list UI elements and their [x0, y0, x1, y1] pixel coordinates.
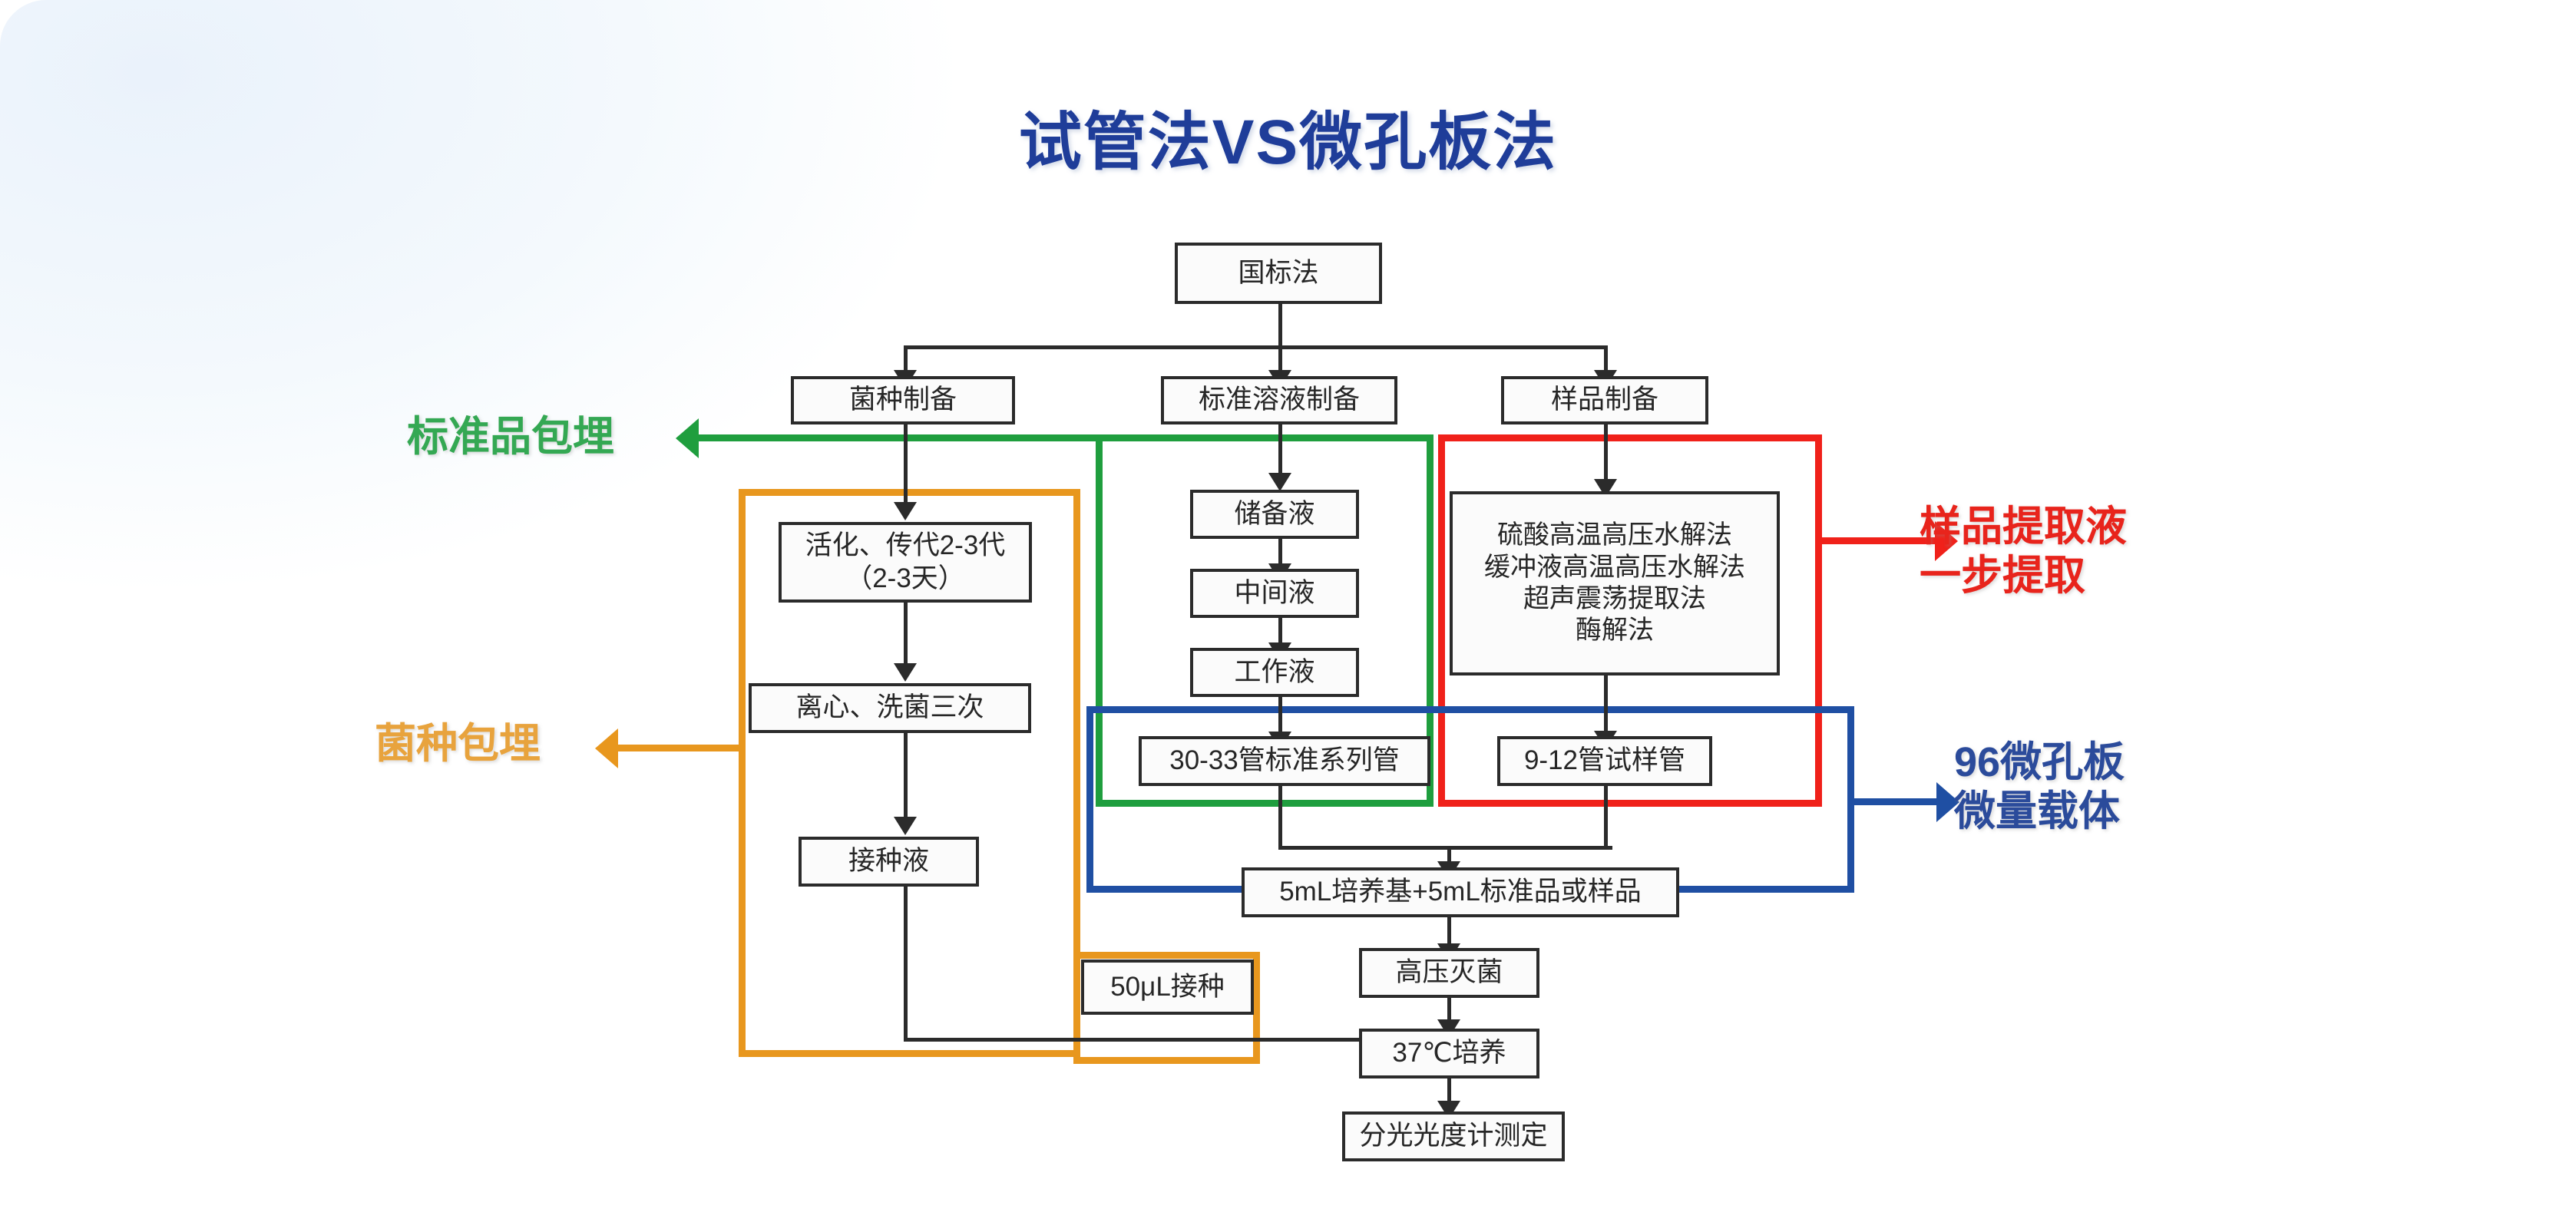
- blue-connector-line: [1850, 798, 1941, 805]
- node-extraction-methods[interactable]: 硫酸高温高压水解法 缓冲液高温高压水解法 超声震荡提取法 酶解法: [1450, 491, 1780, 675]
- node-activate-passage[interactable]: 活化、传代2-3代 （2-3天）: [779, 522, 1032, 603]
- node-stock-solution[interactable]: 储备液: [1190, 490, 1359, 539]
- orange-connector-line: [614, 745, 743, 751]
- green-connector-line: [695, 434, 1102, 441]
- annotation-standard-encapsulation: 标准品包埋: [407, 413, 614, 462]
- orange-ext-bottom: [1073, 1057, 1260, 1064]
- edge-inoculum-down: [904, 887, 908, 1040]
- arrow-col2-stock: [1268, 473, 1291, 491]
- node-centrifuge-wash[interactable]: 离心、洗菌三次: [749, 683, 1031, 733]
- node-autoclave-sterilize[interactable]: 高压灭菌: [1359, 948, 1539, 998]
- node-medium-plus-sample[interactable]: 5mL培养基+5mL标准品或样品: [1242, 867, 1679, 917]
- edge-col2-stock: [1278, 424, 1282, 477]
- node-intermediate-solution[interactable]: 中间液: [1190, 569, 1359, 618]
- node-root[interactable]: 国标法: [1175, 243, 1382, 304]
- node-standard-tube-series[interactable]: 30-33管标准系列管: [1139, 736, 1430, 786]
- node-sample-tubes[interactable]: 9-12管试样管: [1497, 736, 1712, 786]
- node-incubate-37c[interactable]: 37℃培养: [1359, 1029, 1539, 1078]
- edge-extraction-sampletubes: [1604, 675, 1608, 735]
- annotation-sample-extract: 样品提取液 一步提取: [1920, 503, 2127, 600]
- edge-root-down: [1278, 304, 1282, 347]
- arrow-activate-centrifuge: [894, 663, 917, 682]
- edge-col1-activate: [904, 424, 908, 507]
- diagram-canvas: 试管法VS微孔板法: [0, 0, 2576, 1232]
- arrow-centrifuge-inoculum: [894, 817, 917, 835]
- node-sample-prep[interactable]: 样品制备: [1501, 376, 1708, 424]
- edge-activate-centrifuge: [904, 603, 908, 668]
- node-spectrophotometer-measure[interactable]: 分光光度计测定: [1342, 1111, 1565, 1161]
- edge-split-bus: [904, 345, 1604, 349]
- edge-centrifuge-inoculum: [904, 733, 908, 821]
- node-inoculum[interactable]: 接种液: [799, 837, 979, 887]
- orange-arrow-head: [595, 728, 618, 768]
- edge-sampletubes-down: [1604, 786, 1608, 849]
- arrow-col1-activate: [894, 502, 917, 520]
- edge-medium-bus: [1278, 846, 1612, 850]
- node-strain-prep[interactable]: 菌种制备: [791, 376, 1015, 424]
- node-working-solution[interactable]: 工作液: [1190, 648, 1359, 697]
- node-inoculate-50ul[interactable]: 50μL接种: [1081, 960, 1254, 1015]
- orange-ext-top: [1073, 952, 1260, 959]
- annotation-microplate: 96微孔板 微量载体: [1954, 738, 2125, 836]
- group-frame-microplate: [1086, 706, 1854, 893]
- node-standard-solution-prep[interactable]: 标准溶液制备: [1161, 376, 1397, 424]
- edge-col3-extraction: [1604, 424, 1608, 483]
- orange-ext-right: [1253, 952, 1260, 1064]
- edge-stdtubes-down: [1278, 786, 1282, 849]
- green-arrow-head: [676, 418, 699, 458]
- page-title: 试管法VS微孔板法: [0, 91, 2576, 182]
- annotation-strain-encapsulation: 菌种包埋: [375, 720, 541, 769]
